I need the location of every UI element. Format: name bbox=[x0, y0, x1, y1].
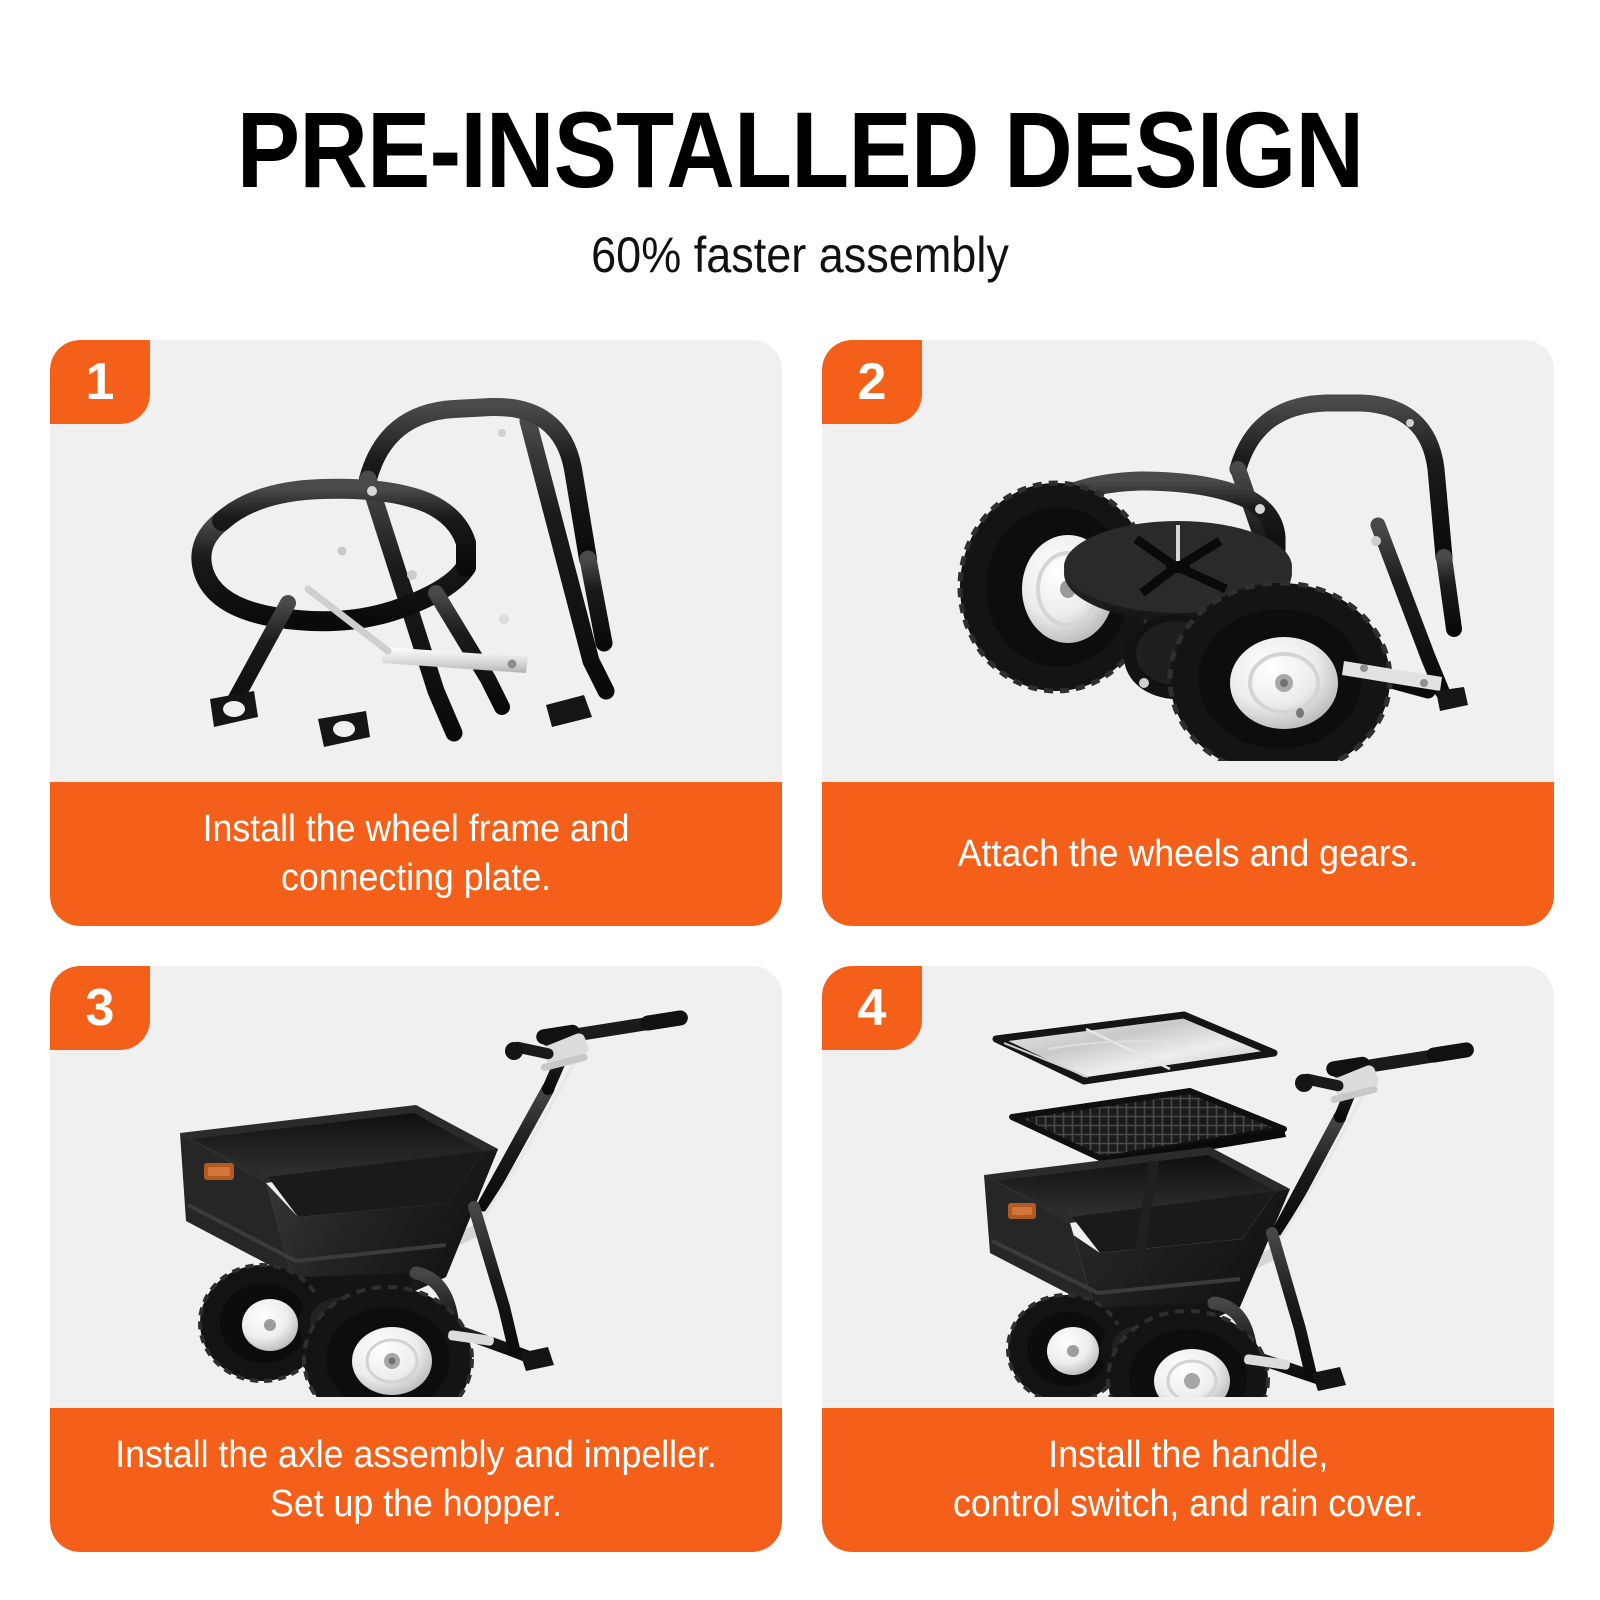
foot-pad-left bbox=[210, 691, 258, 727]
step-badge-3: 3 bbox=[50, 966, 150, 1050]
rain-cover-exploded-illustration bbox=[888, 977, 1488, 1397]
page-title: PRE-INSTALLED DESIGN bbox=[96, 96, 1504, 204]
step-caption-bar-2: Attach the wheels and gears. bbox=[822, 782, 1554, 926]
step-number-4: 4 bbox=[858, 982, 887, 1034]
header: PRE-INSTALLED DESIGN 60% faster assembly bbox=[0, 96, 1600, 280]
step-card-2: 2 bbox=[822, 340, 1554, 926]
step-badge-2: 2 bbox=[822, 340, 922, 424]
wheel-frame-illustration bbox=[136, 361, 696, 761]
step-photo-1 bbox=[50, 340, 782, 782]
step-caption-bar-1: Install the wheel frame and connecting p… bbox=[50, 782, 782, 926]
step-number-1: 1 bbox=[86, 356, 115, 408]
step-card-3: 3 bbox=[50, 966, 782, 1552]
step-badge-4: 4 bbox=[822, 966, 922, 1050]
step-number-2: 2 bbox=[858, 356, 887, 408]
step-card-1: 1 bbox=[50, 340, 782, 926]
wheels-and-gears-illustration bbox=[908, 361, 1468, 761]
step-photo-4 bbox=[822, 966, 1554, 1408]
step-badge-1: 1 bbox=[50, 340, 150, 424]
infographic-page: PRE-INSTALLED DESIGN 60% faster assembly… bbox=[0, 0, 1600, 1600]
step-photo-2 bbox=[822, 340, 1554, 782]
step-caption-4: Install the handle, control switch, and … bbox=[953, 1431, 1424, 1528]
steps-grid: 1 bbox=[50, 340, 1554, 1552]
foot-pad-bottom bbox=[318, 711, 370, 747]
step-caption-bar-3: Install the axle assembly and impeller. … bbox=[50, 1408, 782, 1552]
t-handle bbox=[535, 1009, 689, 1047]
step-card-4: 4 bbox=[822, 966, 1554, 1552]
t-handle-4 bbox=[1325, 1041, 1475, 1078]
hopper-and-axle-illustration bbox=[116, 977, 716, 1397]
step-photo-3 bbox=[50, 966, 782, 1408]
step-caption-bar-4: Install the handle, control switch, and … bbox=[822, 1408, 1554, 1552]
step-caption-3: Install the axle assembly and impeller. … bbox=[115, 1431, 717, 1528]
step-number-3: 3 bbox=[86, 982, 115, 1034]
step-caption-1: Install the wheel frame and connecting p… bbox=[203, 805, 630, 902]
foot-tip-right bbox=[546, 695, 592, 727]
rain-cover bbox=[996, 1015, 1274, 1081]
page-subtitle: 60% faster assembly bbox=[80, 230, 1520, 280]
step-caption-2: Attach the wheels and gears. bbox=[958, 830, 1419, 879]
